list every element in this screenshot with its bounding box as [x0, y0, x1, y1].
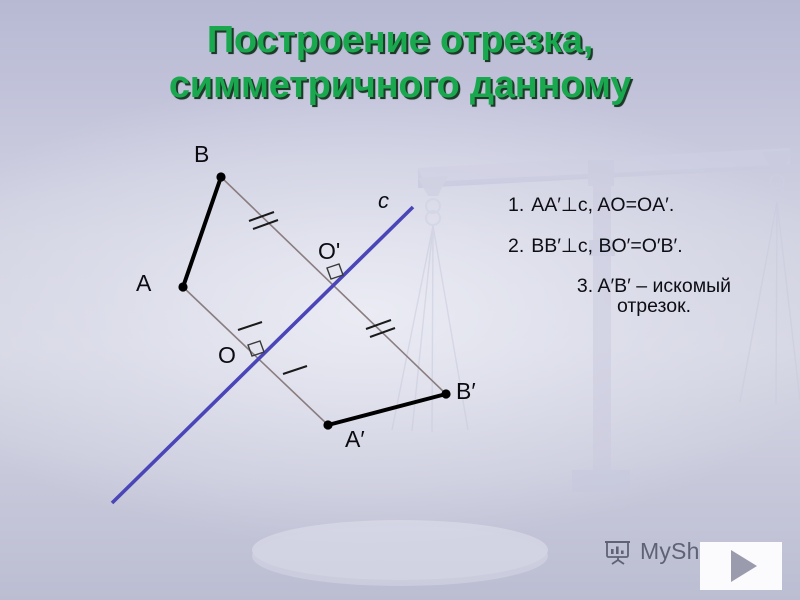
step-3-text-line2: отрезок. [512, 297, 796, 317]
axis-of-symmetry-line-c [112, 207, 413, 503]
play-button-overlay[interactable] [700, 542, 782, 590]
construction-line-AA-prime [183, 287, 328, 425]
step-1-text: AA′⊥c, AO=OA′. [531, 196, 674, 216]
point-A-prime [323, 420, 332, 429]
segment-AB [183, 177, 221, 287]
tick-mark-AO [238, 322, 262, 330]
label-O-prime: O' [318, 240, 340, 263]
step-2-number: 2. [508, 237, 524, 257]
step-item-3: 3. A′B′ – искомый отрезок. [508, 277, 796, 316]
label-B-prime: B′ [456, 380, 476, 403]
label-line-c: c [378, 190, 389, 212]
point-A [178, 282, 187, 291]
step-item-2: 2. BB′⊥c, BO′=O′B′. [508, 237, 796, 257]
label-B: B [194, 143, 209, 166]
presentation-board-icon [604, 539, 632, 565]
step-3-text: A′B′ – искомый [598, 275, 732, 297]
tick-mark-BO-prime-1 [249, 212, 274, 221]
step-2-text: BB′⊥c, BO′=O′B′. [531, 237, 682, 257]
label-A-prime: A′ [345, 428, 365, 451]
slide-canvas: Построение отрезка, симметричного данном… [0, 0, 800, 600]
label-A: A [136, 272, 151, 295]
label-O: O [218, 344, 236, 367]
construction-steps-list: 1. AA′⊥c, AO=OA′. 2. BB′⊥c, BO′=O′B′. 3.… [508, 196, 796, 316]
step-item-1: 1. AA′⊥c, AO=OA′. [508, 196, 796, 216]
play-triangle-icon [731, 550, 757, 582]
segment-A-prime-B-prime [328, 394, 446, 425]
tick-mark-OA-prime [283, 366, 307, 374]
point-B [216, 172, 225, 181]
step-3-number: 3. [577, 275, 593, 297]
tick-mark-O-prime-B-prime-2 [370, 328, 395, 337]
step-1-number: 1. [508, 196, 524, 216]
point-B-prime [441, 389, 450, 398]
